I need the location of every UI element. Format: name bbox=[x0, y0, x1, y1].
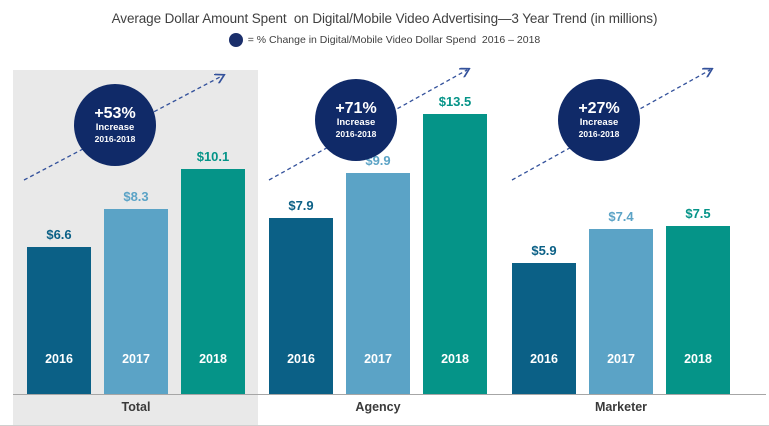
bar-year-label: 2018 bbox=[199, 352, 227, 366]
badge-percent: +27% bbox=[578, 101, 619, 118]
bar-marketer-2017[interactable]: 2017 bbox=[589, 229, 653, 394]
badge-years: 2016-2018 bbox=[95, 134, 136, 144]
badge-agency: +71% Increase 2016-2018 bbox=[315, 79, 397, 161]
bar-total-2016[interactable]: 2016 bbox=[27, 247, 91, 394]
bar-total-2018[interactable]: 2018 bbox=[181, 169, 245, 394]
bar-value-label: $7.5 bbox=[685, 206, 710, 221]
chart-title: Average Dollar Amount Spent on Digital/M… bbox=[0, 11, 769, 26]
bar-value-label: $8.3 bbox=[123, 189, 148, 204]
bar-value-label: $7.9 bbox=[288, 198, 313, 213]
bar-marketer-2018[interactable]: 2018 bbox=[666, 226, 730, 394]
group-agency: +71% Increase 2016-2018 $7.9 2016 $9.9 2… bbox=[269, 62, 487, 426]
bar-value-label: $6.6 bbox=[46, 227, 71, 242]
bar-year-label: 2017 bbox=[607, 352, 635, 366]
bar-value-label: $7.4 bbox=[608, 209, 633, 224]
bar-total-2017[interactable]: 2017 bbox=[104, 209, 168, 394]
group-label-agency: Agency bbox=[269, 400, 487, 414]
bar-marketer-2016[interactable]: 2016 bbox=[512, 263, 576, 394]
bar-year-label: 2018 bbox=[684, 352, 712, 366]
chart-root: Average Dollar Amount Spent on Digital/M… bbox=[0, 0, 769, 426]
bar-year-label: 2016 bbox=[287, 352, 315, 366]
bar-agency-2017[interactable]: 2017 bbox=[346, 173, 410, 394]
bar-agency-2016[interactable]: 2016 bbox=[269, 218, 333, 394]
plot-area: +53% Increase 2016-2018 $6.6 2016 $8.3 2… bbox=[0, 62, 769, 426]
badge-years: 2016-2018 bbox=[579, 129, 620, 139]
bar-year-label: 2017 bbox=[122, 352, 150, 366]
legend-circle-icon bbox=[229, 33, 243, 47]
group-label-total: Total bbox=[27, 400, 245, 414]
badge-word: Increase bbox=[337, 117, 376, 129]
badge-word: Increase bbox=[96, 122, 135, 134]
group-label-marketer: Marketer bbox=[512, 400, 730, 414]
group-marketer: +27% Increase 2016-2018 $5.9 2016 $7.4 2… bbox=[512, 62, 730, 426]
badge-total: +53% Increase 2016-2018 bbox=[74, 84, 156, 166]
badge-percent: +71% bbox=[335, 101, 376, 118]
bar-year-label: 2016 bbox=[530, 352, 558, 366]
legend-label: = % Change in Digital/Mobile Video Dolla… bbox=[248, 34, 541, 46]
badge-percent: +53% bbox=[94, 106, 135, 123]
legend: = % Change in Digital/Mobile Video Dolla… bbox=[0, 33, 769, 47]
group-total: +53% Increase 2016-2018 $6.6 2016 $8.3 2… bbox=[27, 62, 245, 426]
badge-marketer: +27% Increase 2016-2018 bbox=[558, 79, 640, 161]
bar-year-label: 2017 bbox=[364, 352, 392, 366]
badge-word: Increase bbox=[580, 117, 619, 129]
bar-year-label: 2018 bbox=[441, 352, 469, 366]
bar-value-label: $5.9 bbox=[531, 243, 556, 258]
bar-year-label: 2016 bbox=[45, 352, 73, 366]
badge-years: 2016-2018 bbox=[336, 129, 377, 139]
